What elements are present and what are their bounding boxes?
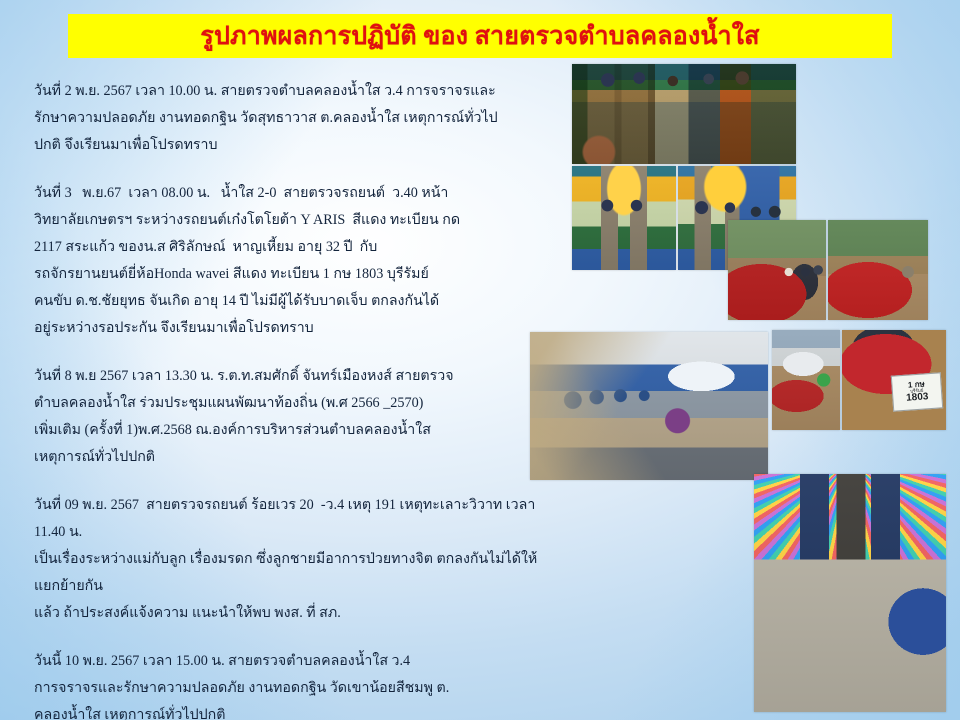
photo-kathin-stage-left <box>572 166 676 270</box>
photo-accident-car-right <box>828 220 928 320</box>
photo-motorcycle-scene <box>772 330 840 430</box>
photo-accident-car-right-image <box>828 220 928 320</box>
licence-plate-number: 1803 <box>906 392 929 404</box>
page-title: รูปภาพผลการปฏิบัติ ของ สายตรวจตำบลคลองน้… <box>200 24 759 49</box>
photo-motorcycle-scene-image <box>772 330 840 430</box>
report-paragraph-1: วันที่ 2 พ.ย. 2567 เวลา 10.00 น. สายตรวจ… <box>34 78 554 159</box>
photo-kathin-group-image <box>572 64 796 164</box>
report-paragraph-3: วันที่ 8 พ.ย 2567 เวลา 13.30 น. ร.ต.ท.สม… <box>34 363 554 471</box>
slide-title-banner: รูปภาพผลการปฏิบัติ ของ สายตรวจตำบลคลองน้… <box>68 14 892 58</box>
photo-kathin-group <box>572 64 796 164</box>
photo-street-patrol-image <box>754 474 946 712</box>
report-text-column: วันที่ 2 พ.ย. 2567 เวลา 10.00 น. สายตรวจ… <box>34 78 554 720</box>
photo-licence-plate: 1 กษ บุรีรัมย์ 1803 <box>842 330 946 430</box>
photo-accident-car-left-image <box>728 220 826 320</box>
photo-accident-car-left <box>728 220 826 320</box>
report-paragraph-5: วันนี้ 10 พ.ย. 2567 เวลา 15.00 น. สายตรว… <box>34 648 554 720</box>
photo-kathin-stage-left-image <box>572 166 676 270</box>
report-paragraph-2: วันที่ 3 พ.ย.67 เวลา 08.00 น. น้ำใส 2-0 … <box>34 180 554 342</box>
licence-plate: 1 กษ บุรีรัมย์ 1803 <box>891 372 943 411</box>
photo-street-patrol <box>754 474 946 712</box>
presentation-slide: รูปภาพผลการปฏิบัติ ของ สายตรวจตำบลคลองน้… <box>0 0 960 720</box>
photo-meeting-room <box>530 332 768 480</box>
report-paragraph-4: วันที่ 09 พ.ย. 2567 สายตรวจรถยนต์ ร้อยเว… <box>34 492 554 627</box>
photo-meeting-room-image <box>530 332 768 480</box>
